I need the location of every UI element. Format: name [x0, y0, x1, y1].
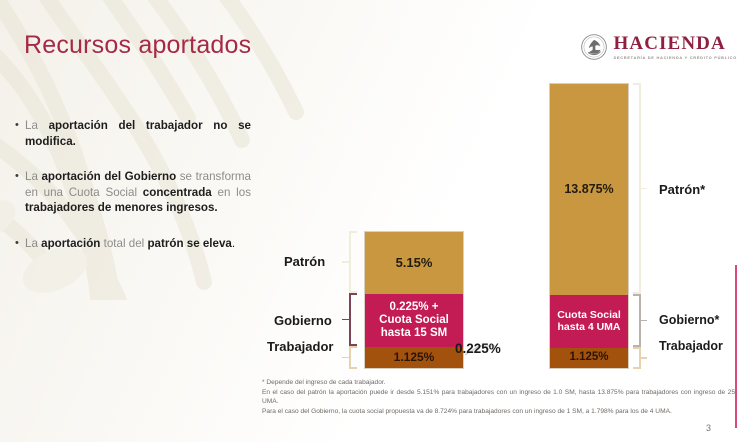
footnote-line-1: * Depende del ingreso de cada trabajador… — [262, 378, 735, 388]
hacienda-logo: HACIENDA SECRETARÍA DE HACIENDA Y CRÉDIT… — [581, 34, 737, 60]
segment-patron: 13.875% — [550, 84, 628, 295]
right-label-patron: Patrón* — [659, 182, 705, 197]
logo-title: HACIENDA — [614, 34, 737, 53]
segment-patron-value: 5.15% — [396, 256, 433, 271]
chart-bar-esquema-actual: 5.15% 0.225% + Cuota Social hasta 15 SM … — [364, 231, 464, 369]
footnote-line-2: En el caso del patrón la aportación pued… — [262, 388, 735, 407]
left-bracket-patron — [341, 231, 358, 293]
chart-bar-esquema-propuesto: 13.875% Cuota Social hasta 4 UMA 1.125% — [549, 83, 629, 369]
gobierno-line-1: 0.225% + — [390, 301, 439, 313]
segment-patron-value: 13.875% — [564, 182, 613, 196]
gobierno-line-1: Cuota Social — [557, 309, 621, 321]
gobierno-line-3: hasta 15 SM — [381, 327, 447, 339]
logo-subtitle: SECRETARÍA DE HACIENDA Y CRÉDITO PÚBLICO — [614, 56, 737, 60]
left-label-gobierno: Gobierno — [274, 313, 332, 328]
segment-gobierno-value: Cuota Social hasta 4 UMA — [557, 310, 621, 334]
segment-trabajador-value: 1.125% — [394, 351, 435, 365]
bullet-text: La aportación del Gobierno se transforma… — [25, 169, 251, 216]
segment-gobierno: Cuota Social hasta 4 UMA — [550, 295, 628, 348]
segment-trabajador: 1.125% — [365, 347, 463, 368]
right-bracket-patron — [631, 83, 648, 294]
bullet-list: • La aportación del trabajador no se mod… — [13, 118, 251, 271]
callout-label-0225: 0.225% — [455, 341, 501, 356]
list-item: • La aportación total del patrón se elev… — [13, 236, 251, 252]
list-item: • La aportación del trabajador no se mod… — [13, 118, 251, 149]
slide-canvas: Recursos aportados HACIENDA SECRETARÍA D… — [0, 0, 745, 442]
bullet-marker: • — [13, 236, 25, 252]
segment-patron: 5.15% — [365, 232, 463, 294]
left-label-patron: Patrón — [284, 254, 325, 269]
footnote-block: * Depende del ingreso de cada trabajador… — [262, 378, 735, 416]
footnote-line-3: Para el caso del Gobierno, la cuota soci… — [262, 407, 735, 417]
right-label-gobierno: Gobierno* — [659, 313, 719, 327]
page-title: Recursos aportados — [24, 31, 251, 60]
left-bracket-gobierno — [341, 293, 358, 346]
list-item: • La aportación del Gobierno se transfor… — [13, 169, 251, 216]
segment-trabajador: 1.125% — [550, 348, 628, 368]
gobierno-line-2: Cuota Social — [379, 314, 449, 326]
bullet-marker: • — [13, 169, 25, 216]
left-label-trabajador: Trabajador — [267, 339, 333, 354]
right-label-trabajador: Trabajador — [659, 339, 723, 353]
left-bracket-trabajador — [341, 346, 358, 369]
bullet-text: La aportación total del patrón se eleva. — [25, 236, 235, 252]
gobierno-line-2: hasta 4 UMA — [557, 321, 620, 333]
right-bracket-gobierno — [631, 294, 648, 347]
right-edge-accent-strip — [735, 265, 737, 428]
bullet-marker: • — [13, 118, 25, 149]
page-number: 3 — [706, 423, 711, 433]
mexican-eagle-seal-icon — [581, 34, 607, 60]
bullet-text: La aportación del trabajador no se modif… — [25, 118, 251, 149]
segment-trabajador-value: 1.125% — [569, 351, 608, 364]
segment-gobierno-value: 0.225% + Cuota Social hasta 15 SM — [379, 301, 449, 340]
logo-text-block: HACIENDA SECRETARÍA DE HACIENDA Y CRÉDIT… — [614, 34, 737, 60]
segment-gobierno: 0.225% + Cuota Social hasta 15 SM — [365, 294, 463, 347]
right-bracket-trabajador — [631, 347, 648, 369]
